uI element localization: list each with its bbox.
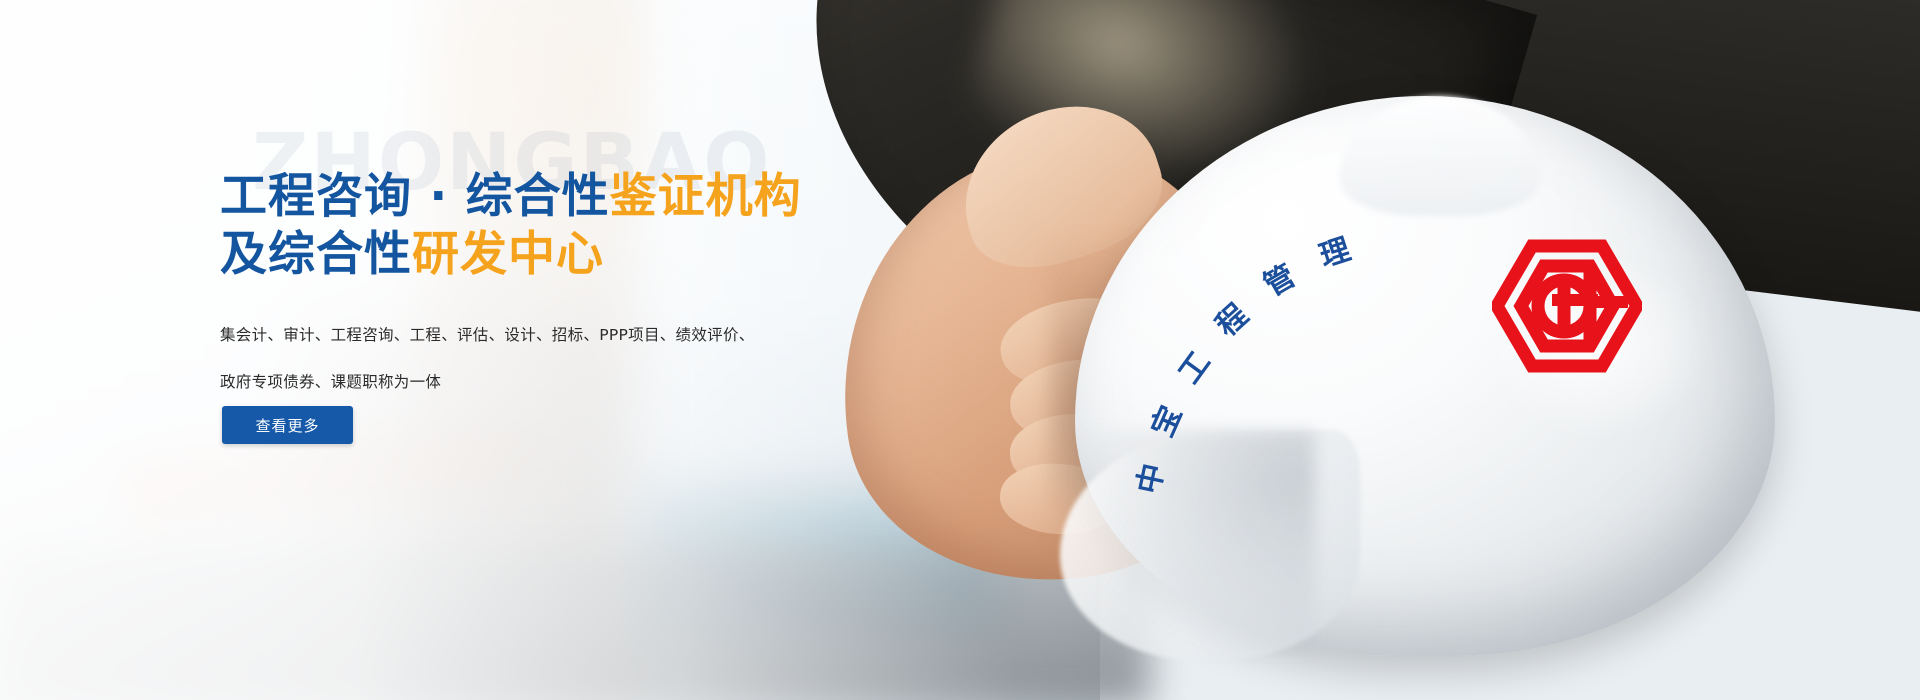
hero-banner: 中 宝 工 程 管 理 ZHONGBAO 工程咨询 · 综合性鉴证机构 及综合性… [0,0,1920,700]
zhongbao-hexagon-logo [1492,236,1642,376]
headline-line-1-blue: 工程咨询 · 综合性 [220,169,610,224]
headline-block: 工程咨询 · 综合性鉴证机构 及综合性研发中心 [220,168,920,284]
helmet-brand-char-3: 工 [1165,341,1218,391]
helmet-brand-char-5: 管 [1254,251,1302,304]
helmet-brand-char-6: 理 [1313,224,1355,275]
headline-line-2-orange: 研发中心 [412,227,604,282]
banner-content: ZHONGBAO 工程咨询 · 综合性鉴证机构 及综合性研发中心 集会计、审计、… [220,0,920,700]
helmet-brand-text: 中 宝 工 程 管 理 [1075,96,1775,656]
description-line-1: 集会计、审计、工程咨询、工程、评估、设计、招标、PPP项目、绩效评价、 [220,312,800,359]
headline-line-2: 及综合性研发中心 [220,226,920,284]
description-block: 集会计、审计、工程咨询、工程、评估、设计、招标、PPP项目、绩效评价、 政府专项… [220,312,800,406]
helmet-brand-char-1: 中 [1123,459,1172,497]
helmet-brand-char-2: 宝 [1138,397,1190,442]
description-line-2: 政府专项债券、课题职称为一体 [220,359,800,406]
headline-line-1-orange: 鉴证机构 [610,169,802,224]
helmet-brand-char-4: 程 [1204,292,1256,345]
headline-line-2-blue: 及综合性 [220,227,412,282]
view-more-button[interactable]: 查看更多 [222,406,353,444]
headline-line-1: 工程咨询 · 综合性鉴证机构 [220,168,920,226]
